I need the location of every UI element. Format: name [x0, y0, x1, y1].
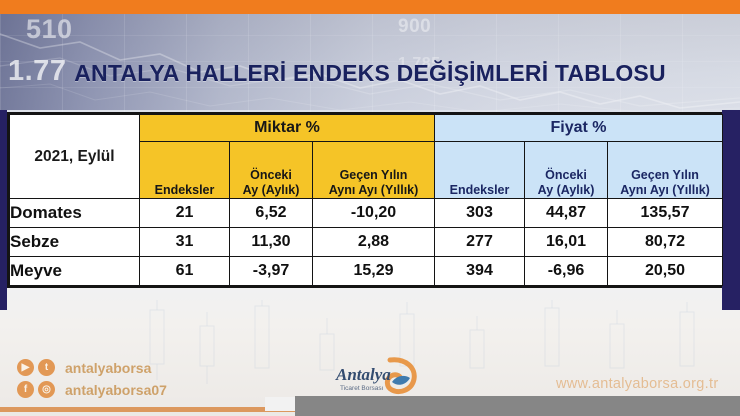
subheader-miktar-onceki-ay-line2: Ay (Aylık) — [230, 183, 312, 198]
cell-meyve-fiyat-onceki-ay: -6,96 — [525, 257, 608, 286]
cell-sebze-miktar-onceki-ay: 11,30 — [230, 228, 313, 257]
cell-meyve-fiyat-gecen-yil: 20,50 — [608, 257, 723, 286]
twitter-icon[interactable]: t — [38, 359, 55, 376]
row-label-domates: Domates — [10, 199, 140, 228]
bottom-gray-overlay-bar — [295, 396, 740, 416]
table-corner-period-label: 2021, Eylül — [10, 115, 140, 199]
antalya-borsa-logo: Antalya Ticaret Borsası — [330, 352, 426, 398]
right-navy-strip — [722, 110, 740, 310]
website-url[interactable]: www.antalyaborsa.org.tr — [556, 376, 718, 392]
cell-meyve-fiyat-endeksler: 394 — [435, 257, 525, 286]
subheader-fiyat-endeksler-line2: Endeksler — [435, 183, 524, 198]
subheader-fiyat-gecen-yil-line1: Geçen Yılın — [608, 168, 722, 183]
social-handle-secondary[interactable]: antalyaborsa07 — [65, 382, 167, 398]
bottom-white-chip — [265, 397, 295, 411]
youtube-icon[interactable]: ▶ — [17, 359, 34, 376]
subheader-miktar-gecen-yil: Geçen Yılın Aynı Ayı (Yıllık) — [313, 142, 435, 199]
cell-domates-fiyat-gecen-yil: 135,57 — [608, 199, 723, 228]
table-row: Domates 21 6,52 -10,20 303 44,87 135,57 — [10, 199, 723, 228]
cell-sebze-fiyat-onceki-ay: 16,01 — [525, 228, 608, 257]
subheader-fiyat-onceki-ay-line1: Önceki — [525, 168, 607, 183]
cell-domates-fiyat-endeksler: 303 — [435, 199, 525, 228]
cell-meyve-miktar-onceki-ay: -3,97 — [230, 257, 313, 286]
cell-domates-miktar-endeksler: 21 — [140, 199, 230, 228]
cell-domates-miktar-gecen-yil: -10,20 — [313, 199, 435, 228]
cell-sebze-fiyat-gecen-yil: 80,72 — [608, 228, 723, 257]
table-row: Sebze 31 11,30 2,88 277 16,01 80,72 — [10, 228, 723, 257]
subheader-miktar-onceki-ay: Önceki Ay (Aylık) — [230, 142, 313, 199]
cell-domates-miktar-onceki-ay: 6,52 — [230, 199, 313, 228]
group-header-fiyat: Fiyat % — [435, 115, 723, 142]
subheader-fiyat-endeksler: Endeksler — [435, 142, 525, 199]
logo-text-main: Antalya — [335, 365, 391, 384]
top-orange-bar — [0, 0, 740, 14]
cell-sebze-miktar-endeksler: 31 — [140, 228, 230, 257]
social-row-2: f ◎ antalyaborsa07 — [17, 380, 167, 399]
social-links: ▶ t antalyaborsa f ◎ antalyaborsa07 — [17, 358, 167, 402]
group-header-miktar: Miktar % — [140, 115, 435, 142]
subheader-fiyat-onceki-ay-line2: Ay (Aylık) — [525, 183, 607, 198]
subheader-fiyat-gecen-yil-line2: Aynı Ayı (Yıllık) — [608, 183, 722, 198]
subheader-miktar-gecen-yil-line1: Geçen Yılın — [313, 168, 434, 183]
subheader-fiyat-gecen-yil: Geçen Yılın Aynı Ayı (Yıllık) — [608, 142, 723, 199]
instagram-icon[interactable]: ◎ — [38, 381, 55, 398]
cell-domates-fiyat-onceki-ay: 44,87 — [525, 199, 608, 228]
subheader-miktar-endeksler: Endeksler — [140, 142, 230, 199]
row-label-sebze: Sebze — [10, 228, 140, 257]
subheader-miktar-onceki-ay-line1: Önceki — [230, 168, 312, 183]
cell-sebze-miktar-gecen-yil: 2,88 — [313, 228, 435, 257]
facebook-icon[interactable]: f — [17, 381, 34, 398]
logo-text-sub: Ticaret Borsası — [340, 385, 384, 392]
slide-canvas: 510 1.77 900 1.785 ANTALYA HALLERİ ENDEK… — [0, 0, 740, 416]
cell-meyve-miktar-endeksler: 61 — [140, 257, 230, 286]
bottom-orange-strip — [0, 407, 296, 412]
table-group-header-row: 2021, Eylül Miktar % Fiyat % — [10, 115, 723, 142]
social-handle-primary[interactable]: antalyaborsa — [65, 360, 151, 376]
cell-sebze-fiyat-endeksler: 277 — [435, 228, 525, 257]
left-navy-strip — [0, 110, 7, 310]
subheader-miktar-gecen-yil-line2: Aynı Ayı (Yıllık) — [313, 183, 434, 198]
page-title: ANTALYA HALLERİ ENDEKS DEĞİŞİMLERİ TABLO… — [0, 60, 740, 87]
cell-meyve-miktar-gecen-yil: 15,29 — [313, 257, 435, 286]
row-label-meyve: Meyve — [10, 257, 140, 286]
index-table: 2021, Eylül Miktar % Fiyat % Endeksler Ö… — [7, 112, 722, 288]
social-row-1: ▶ t antalyaborsa — [17, 358, 167, 377]
subheader-fiyat-onceki-ay: Önceki Ay (Aylık) — [525, 142, 608, 199]
table-row: Meyve 61 -3,97 15,29 394 -6,96 20,50 — [10, 257, 723, 286]
subheader-miktar-endeksler-line2: Endeksler — [140, 183, 229, 198]
